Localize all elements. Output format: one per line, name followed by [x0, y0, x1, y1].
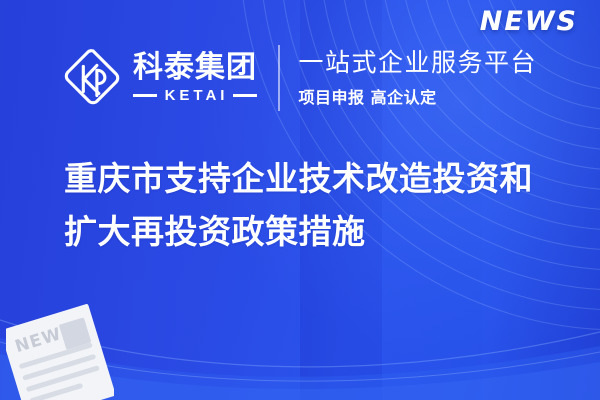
header-divider — [278, 45, 280, 111]
news-badge: NEWS — [480, 6, 578, 37]
wordmark-dash-left — [133, 94, 157, 97]
brand-name-en-row: KETAI — [133, 87, 257, 104]
banner-header: 科泰集团 KETAI 一站式企业服务平台 项目申报 高企认定 — [62, 40, 537, 116]
tagline-sub: 项目申报 高企认定 — [299, 84, 538, 108]
brand-name-en: KETAI — [157, 87, 234, 104]
page-title-line-1: 重庆市支持企业技术改造投资和 — [64, 152, 564, 205]
tagline-main: 一站式企业服务平台 — [299, 48, 538, 78]
page-title-line-2: 扩大再投资政策措施 — [64, 205, 564, 258]
wordmark-dash-right — [233, 94, 257, 97]
tagline-block: 一站式企业服务平台 项目申报 高企认定 — [299, 48, 538, 108]
ketai-diamond-monogram-icon — [62, 47, 124, 109]
news-banner: 科泰集团 KETAI 一站式企业服务平台 项目申报 高企认定 NEWS 重庆市支… — [0, 0, 600, 400]
newspaper-icon: NEWS — [6, 300, 114, 400]
page-title: 重庆市支持企业技术改造投资和 扩大再投资政策措施 — [64, 152, 564, 259]
brand-name-cn: 科泰集团 — [133, 52, 257, 84]
brand-wordmark: 科泰集团 KETAI — [133, 52, 257, 104]
